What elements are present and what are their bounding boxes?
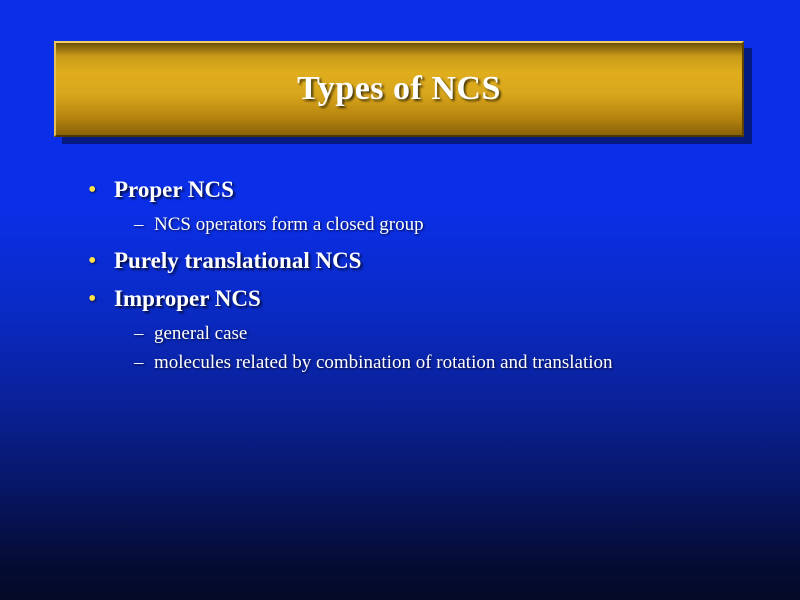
sub-list-item-label: general case [154,321,247,346]
list-item-label: Purely translational NCS [114,247,361,275]
bullet-icon: • [88,247,114,275]
slide-title-box: Types of NCS [54,41,744,137]
page-title: Types of NCS [297,70,501,108]
sub-list-item: – molecules related by combination of ro… [134,350,748,375]
slide-body: • Proper NCS – NCS operators form a clos… [88,176,748,377]
list-item-label: Proper NCS [114,176,234,204]
dash-icon: – [134,350,154,375]
sub-list-item: – general case [134,321,748,346]
sub-list-item-label: NCS operators form a closed group [154,212,424,237]
list-item: • Proper NCS [88,176,748,204]
slide-canvas: Types of NCS • Proper NCS – NCS operator… [0,0,800,600]
dash-icon: – [134,321,154,346]
list-item: • Improper NCS [88,285,748,313]
sub-list-item-label: molecules related by combination of rota… [154,350,613,375]
bullet-icon: • [88,176,114,204]
dash-icon: – [134,212,154,237]
list-item: • Purely translational NCS [88,247,748,275]
bullet-icon: • [88,285,114,313]
list-item-label: Improper NCS [114,285,261,313]
sub-list-item: – NCS operators form a closed group [134,212,748,237]
